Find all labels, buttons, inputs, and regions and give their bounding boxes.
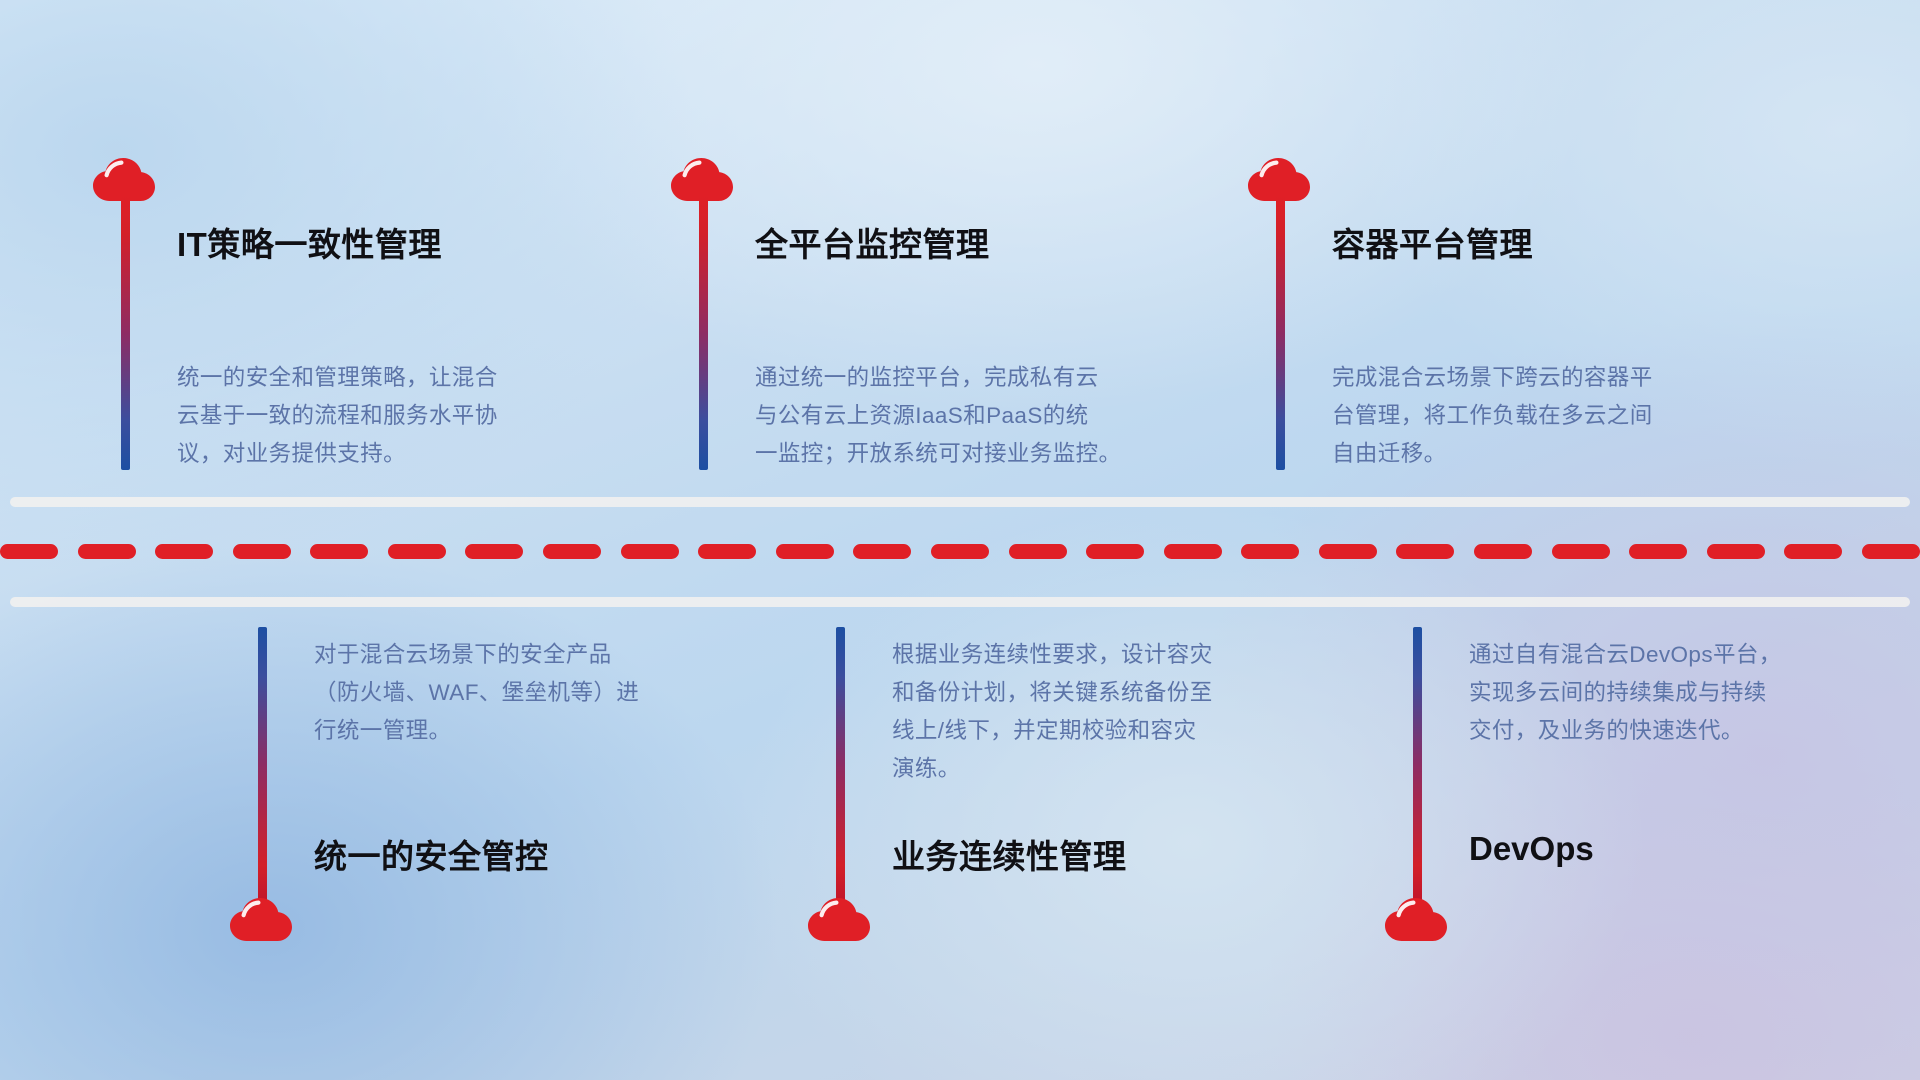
connector-bar	[1276, 196, 1285, 470]
divider-dash	[1784, 544, 1842, 559]
divider-dash	[1164, 544, 1222, 559]
divider-dash	[0, 544, 58, 559]
divider-dash	[543, 544, 601, 559]
divider-dash	[1086, 544, 1144, 559]
divider-dash	[233, 544, 291, 559]
divider-dash	[1629, 544, 1687, 559]
divider-dash	[621, 544, 679, 559]
connector-bar	[836, 627, 845, 904]
feature-title: 业务连续性管理	[892, 830, 1127, 878]
divider-dash	[1474, 544, 1532, 559]
feature-title: 统一的安全管控	[314, 830, 549, 878]
feature-title: 全平台监控管理	[755, 218, 990, 266]
feature-description: 根据业务连续性要求，设计容灾 和备份计划，将关键系统备份至 线上/线下，并定期校…	[892, 636, 1312, 788]
divider-dash	[78, 544, 136, 559]
divider-dash	[1319, 544, 1377, 559]
divider-dash	[1009, 544, 1067, 559]
connector-bar	[258, 627, 267, 904]
cloud-icon	[1385, 898, 1447, 942]
divider-dash	[853, 544, 911, 559]
divider-dash	[776, 544, 834, 559]
divider-dash	[1862, 544, 1920, 559]
divider-dash	[155, 544, 213, 559]
feature-title: DevOps	[1469, 830, 1594, 868]
divider-dash	[1552, 544, 1610, 559]
infographic-canvas: IT策略一致性管理 统一的安全和管理策略，让混合 云基于一致的流程和服务水平协 …	[0, 0, 1920, 1080]
divider-line-bottom	[10, 597, 1910, 607]
divider-dash	[931, 544, 989, 559]
divider-dash	[1241, 544, 1299, 559]
divider-line-top	[10, 497, 1910, 507]
feature-title: 容器平台管理	[1332, 218, 1533, 266]
red-dashed-divider	[0, 543, 1920, 559]
divider-dash	[310, 544, 368, 559]
connector-bar	[1413, 627, 1422, 904]
divider-dash	[1396, 544, 1454, 559]
cloud-icon	[230, 898, 292, 942]
cloud-icon	[808, 898, 870, 942]
feature-title: IT策略一致性管理	[177, 218, 442, 266]
divider-dash	[1707, 544, 1765, 559]
connector-bar	[699, 196, 708, 470]
feature-description: 通过自有混合云DevOps平台， 实现多云间的持续集成与持续 交付，及业务的快速…	[1469, 636, 1889, 750]
feature-description: 统一的安全和管理策略，让混合 云基于一致的流程和服务水平协 议，对业务提供支持。	[177, 359, 597, 473]
divider-dash	[388, 544, 446, 559]
connector-bar	[121, 196, 130, 470]
feature-description: 对于混合云场景下的安全产品 （防火墙、WAF、堡垒机等）进 行统一管理。	[314, 636, 734, 750]
divider-dash	[698, 544, 756, 559]
feature-description: 通过统一的监控平台，完成私有云 与公有云上资源IaaS和PaaS的统 一监控；开…	[755, 359, 1175, 473]
feature-description: 完成混合云场景下跨云的容器平 台管理，将工作负载在多云之间 自由迁移。	[1332, 359, 1752, 473]
divider-dash	[465, 544, 523, 559]
